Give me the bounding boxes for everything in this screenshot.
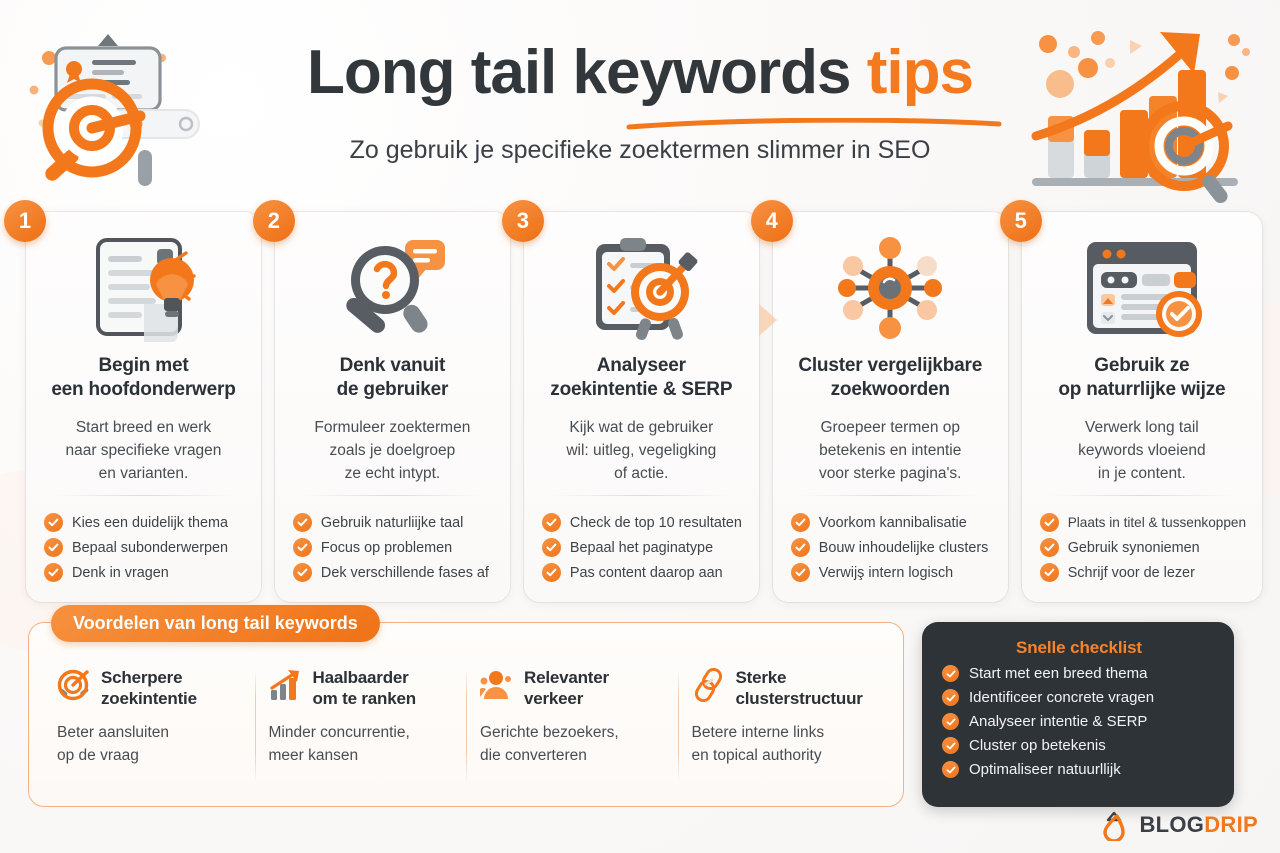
logo-text-accent: DRIP <box>1204 812 1258 837</box>
step-check-list: Plaats in titel & tussenkoppen Gebruik s… <box>1034 496 1250 602</box>
target-arrow-icon <box>57 668 91 702</box>
checklist-item: Optimaliseer natuurllijk <box>942 761 1216 778</box>
header: Long tail keywords tips Zo gebruik je sp… <box>0 0 1280 205</box>
benefit-header: Scherpere zoekintentie <box>57 667 241 709</box>
check-icon <box>1040 538 1059 557</box>
check-icon <box>542 538 561 557</box>
step-card-3[interactable]: 3 <box>524 212 759 602</box>
benefit-header: Haalbaarder om te ranken <box>269 667 453 709</box>
benefit-description: Betere interne links en topical authorit… <box>692 722 876 767</box>
brand-logo[interactable]: BLOGDRIP <box>1101 809 1258 841</box>
step-card-description: Groepeer termen op betekenis en intentie… <box>819 417 962 486</box>
check-icon <box>44 538 63 557</box>
check-item: Voorkom kannibalisatie <box>791 513 992 532</box>
check-item: Verwijş intern logisch <box>791 563 992 582</box>
benefit-item: Scherpere zoekintentie Beter aansluiten … <box>43 667 255 806</box>
magnifier-question-chat-icon <box>333 232 451 344</box>
checklist-item: Identificeer concrete vragen <box>942 689 1216 706</box>
check-icon <box>1040 563 1059 582</box>
check-item: Focus op problemen <box>293 538 494 557</box>
benefit-title: Haalbaarder om te ranken <box>313 667 416 709</box>
step-card-title: Cluster vergelijkbare zoekwoorden <box>798 354 982 403</box>
droplet-logo-icon <box>1101 809 1131 841</box>
page-subtitle: Zo gebruik je specifieke zoektermen slim… <box>0 136 1280 165</box>
check-icon <box>791 513 810 532</box>
logo-wordmark: BLOGDRIP <box>1139 812 1258 838</box>
check-icon <box>1040 513 1059 532</box>
check-item: Dek verschillende fases af <box>293 563 494 582</box>
check-icon <box>542 513 561 532</box>
step-card-5[interactable]: 5 <box>1022 212 1262 602</box>
check-icon <box>942 737 959 754</box>
check-item: Schrijf voor de lezer <box>1040 563 1246 582</box>
step-card-2[interactable]: 2 Denk vanuit de gebruiker <box>275 212 510 602</box>
check-item: Denk in vragen <box>44 563 245 582</box>
check-item: Bouw inhoudelijke clusters <box>791 538 992 557</box>
step-number-badge: 3 <box>502 200 544 242</box>
network-cluster-hub-icon <box>831 232 949 344</box>
check-icon <box>791 563 810 582</box>
step-card-title: Denk vanuit de gebruiker <box>337 354 449 403</box>
step-card-description: Kijk wat de gebruiker wil: uitleg, vegel… <box>566 417 716 486</box>
check-item: Plaats in titel & tussenkoppen <box>1040 513 1246 532</box>
step-connector-arrow <box>757 300 779 340</box>
check-icon <box>942 689 959 706</box>
benefit-description: Beter aansluiten op de vraag <box>57 722 241 767</box>
benefit-description: Gerichte bezoekers, die converteren <box>480 722 664 767</box>
check-item: Pas content daarop aan <box>542 563 743 582</box>
clipboard-target-dart-icon <box>582 232 700 344</box>
step-check-list: Gebruik naturliijke taal Focus op proble… <box>287 496 498 602</box>
step-check-list: Check de top 10 resultaten Bepaal het pa… <box>536 496 747 602</box>
step-number-badge: 1 <box>4 200 46 242</box>
step-card-title: Gebruik ze op naturrlijke wijze <box>1058 354 1225 403</box>
title-underline-swoosh <box>625 118 1003 132</box>
benefits-panel: Voordelen van long tail keywords Scherpe… <box>28 622 904 807</box>
step-number-badge: 5 <box>1000 200 1042 242</box>
steps-row: 1 Begin me <box>26 212 1262 602</box>
bar-chart-growth-icon <box>269 668 303 702</box>
checklist-item: Analyseer intentie & SERP <box>942 713 1216 730</box>
check-icon <box>942 665 959 682</box>
title-accent: tips <box>867 38 973 107</box>
checklist-item: Start met een breed thema <box>942 665 1216 682</box>
benefit-item: Haalbaarder om te ranken Minder concurre… <box>255 667 467 806</box>
check-item: Kies een duidelijk thema <box>44 513 245 532</box>
people-traffic-icon <box>480 668 514 702</box>
document-lightbulb-icon <box>84 232 202 344</box>
check-icon <box>791 538 810 557</box>
benefit-description: Minder concurrentie, meer kansen <box>269 722 453 767</box>
title-main: Long tail keywords <box>307 38 851 107</box>
step-card-title: Begin met een hoofdonderwerp <box>51 354 235 403</box>
step-card-4[interactable]: 4 <box>773 212 1008 602</box>
benefit-title: Sterke clusterstructuur <box>736 667 863 709</box>
browser-window-check-icon <box>1079 232 1205 344</box>
check-icon <box>942 761 959 778</box>
benefit-item: Relevanter verkeer Gerichte bezoekers, d… <box>466 667 678 806</box>
check-icon <box>44 513 63 532</box>
check-item: Gebruik synoniemen <box>1040 538 1246 557</box>
check-icon <box>542 563 561 582</box>
step-card-description: Formuleer zoektermen zoals je doelgroep … <box>314 417 470 486</box>
check-item: Gebruik naturliijke taal <box>293 513 494 532</box>
quick-checklist-panel: Snelle checklist Start met een breed the… <box>922 622 1234 807</box>
page-title: Long tail keywords tips <box>0 42 1280 104</box>
step-number-badge: 2 <box>253 200 295 242</box>
benefit-item: Sterke clusterstructuur Betere interne l… <box>678 667 890 806</box>
infographic-page: Long tail keywords tips Zo gebruik je sp… <box>0 0 1280 853</box>
step-card-title: Analyseer zoekintentie & SERP <box>550 354 732 403</box>
check-item: Bepaal het paginatype <box>542 538 743 557</box>
benefit-header: Sterke clusterstructuur <box>692 667 876 709</box>
step-card-description: Start breed en werk naar specifieke vrag… <box>65 417 221 486</box>
benefit-header: Relevanter verkeer <box>480 667 664 709</box>
logo-text-dark: BLOG <box>1139 812 1204 837</box>
check-item: Bepaal subonderwerpen <box>44 538 245 557</box>
step-card-1[interactable]: 1 Begin me <box>26 212 261 602</box>
checklist-item: Cluster op betekenis <box>942 737 1216 754</box>
check-icon <box>942 713 959 730</box>
chain-link-icon <box>692 668 726 702</box>
benefit-title: Relevanter verkeer <box>524 667 609 709</box>
check-icon <box>293 563 312 582</box>
checklist-title: Snelle checklist <box>942 638 1216 658</box>
check-icon <box>293 538 312 557</box>
check-icon <box>44 563 63 582</box>
step-number-badge: 4 <box>751 200 793 242</box>
check-icon <box>293 513 312 532</box>
benefits-grid: Scherpere zoekintentie Beter aansluiten … <box>29 623 903 806</box>
benefit-title: Scherpere zoekintentie <box>101 667 197 709</box>
benefits-pill-label: Voordelen van long tail keywords <box>51 605 380 642</box>
step-check-list: Kies een duidelijk thema Bepaal subonder… <box>38 496 249 602</box>
bottom-section: Voordelen van long tail keywords Scherpe… <box>28 622 1252 807</box>
step-card-description: Verwerk long tail keywords vloeiend in j… <box>1078 417 1206 486</box>
step-check-list: Voorkom kannibalisatie Bouw inhoudelijke… <box>785 496 996 602</box>
check-item: Check de top 10 resultaten <box>542 513 743 532</box>
